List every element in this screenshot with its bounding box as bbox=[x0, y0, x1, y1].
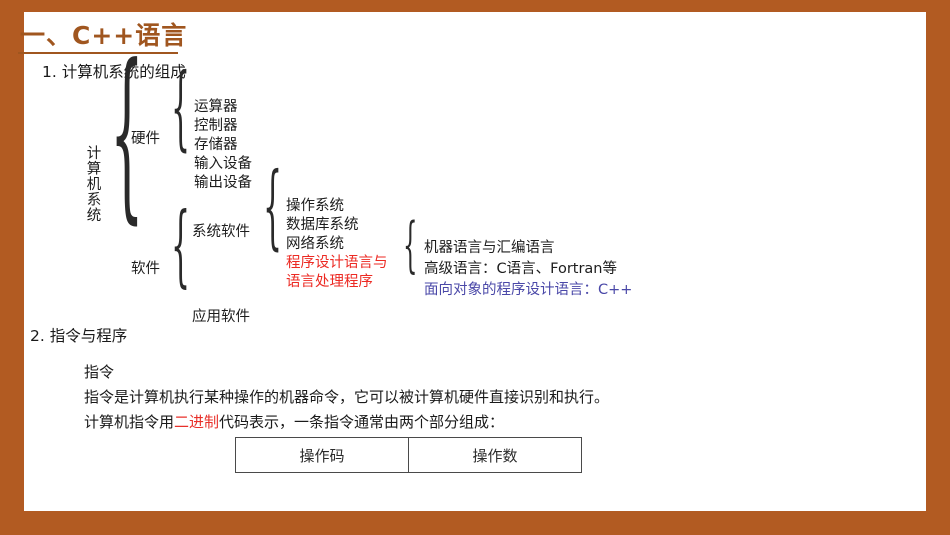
slide-frame: 一、C++语言 1. 计算机系统的组成 计算机系统 { 硬件 { 运算器 控制器… bbox=[0, 0, 950, 535]
title-underline bbox=[18, 52, 178, 54]
hardware-item-4: 输出设备 bbox=[194, 175, 252, 192]
hardware-item-1: 控制器 bbox=[194, 118, 238, 135]
instruction-line-2: 计算机指令用二进制代码表示，一条指令通常由两个部分组成： bbox=[84, 414, 504, 431]
section-2-heading: 2. 指令与程序 bbox=[30, 328, 127, 346]
language-item-0: 机器语言与汇编语言 bbox=[424, 240, 555, 257]
diagram-root-label: 计算机系统 bbox=[85, 145, 100, 255]
table-row: 操作码 操作数 bbox=[236, 438, 582, 473]
instruction-line-1: 指令是计算机执行某种操作的机器命令，它可以被计算机硬件直接识别和执行。 bbox=[84, 389, 609, 406]
brace-languages: { bbox=[403, 215, 418, 275]
diagram-hardware-label: 硬件 bbox=[131, 131, 160, 148]
table-cell-operand: 操作数 bbox=[409, 438, 582, 473]
instruction-format-table: 操作码 操作数 bbox=[235, 437, 582, 473]
hardware-item-2: 存储器 bbox=[194, 137, 238, 154]
diagram-application-software-label: 应用软件 bbox=[192, 309, 250, 326]
hardware-item-0: 运算器 bbox=[194, 99, 238, 116]
diagram-software-label: 软件 bbox=[131, 261, 160, 278]
brace-system-software: { bbox=[263, 164, 282, 256]
brace-software: { bbox=[171, 205, 190, 294]
system-software-item-1: 数据库系统 bbox=[286, 217, 359, 234]
language-item-2: 面向对象的程序设计语言：C++ bbox=[424, 282, 632, 299]
instruction-line-2-part-b: 代码表示，一条指令通常由两个部分组成： bbox=[219, 413, 504, 431]
brace-hardware: { bbox=[171, 65, 190, 157]
system-software-item-2: 网络系统 bbox=[286, 236, 344, 253]
page-title: 一、C++语言 bbox=[20, 16, 187, 52]
hardware-item-3: 输入设备 bbox=[194, 156, 252, 173]
diagram-system-software-label: 系统软件 bbox=[192, 224, 250, 241]
system-software-item-4: 语言处理程序 bbox=[286, 274, 373, 291]
instruction-line-2-part-a: 计算机指令用 bbox=[84, 413, 174, 431]
instruction-line-2-highlight: 二进制 bbox=[174, 413, 219, 431]
table-cell-opcode: 操作码 bbox=[236, 438, 409, 473]
system-software-item-0: 操作系统 bbox=[286, 198, 344, 215]
slide-canvas: 一、C++语言 1. 计算机系统的组成 计算机系统 { 硬件 { 运算器 控制器… bbox=[24, 12, 926, 511]
instruction-heading: 指令 bbox=[84, 364, 114, 381]
language-item-1: 高级语言：C语言、Fortran等 bbox=[424, 261, 617, 278]
system-software-item-3: 程序设计语言与 bbox=[286, 255, 388, 272]
